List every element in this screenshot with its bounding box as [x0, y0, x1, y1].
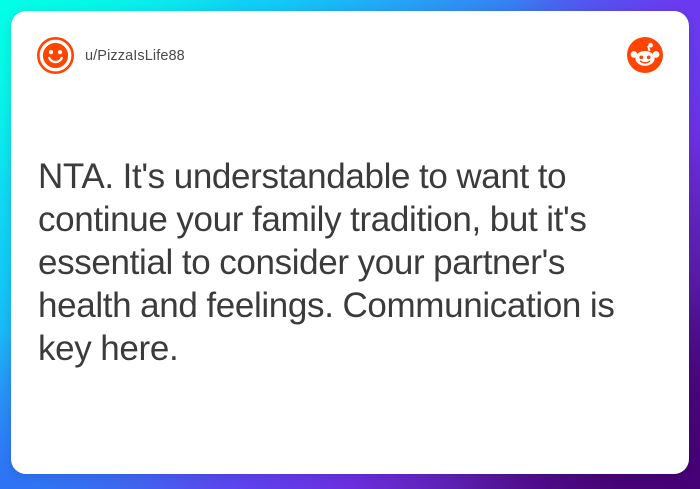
reddit-comment-card: u/PizzaIsLife88 NTA. It's understan [11, 11, 689, 474]
username-label: u/PizzaIsLife88 [85, 48, 185, 64]
comment-text: NTA. It's understandable to want to cont… [38, 155, 661, 370]
reddit-snoo-icon[interactable] [626, 36, 664, 74]
comment-header: u/PizzaIsLife88 [11, 11, 689, 97]
smiley-face-avatar-icon [36, 36, 75, 75]
